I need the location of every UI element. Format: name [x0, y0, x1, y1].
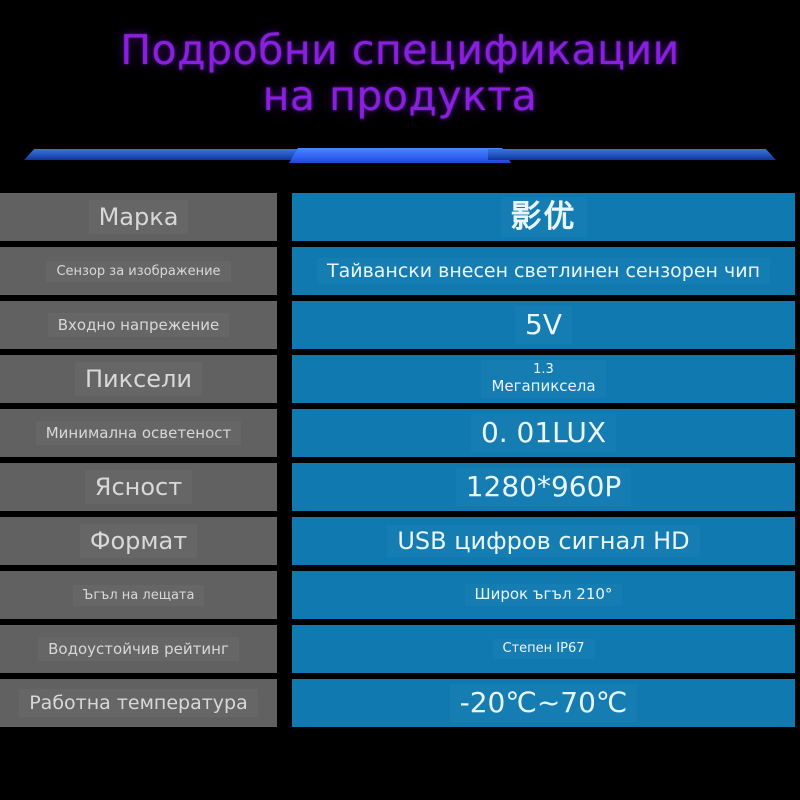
spec-label-cell: Формат: [0, 517, 277, 565]
spec-value-line-2: Мегапиксела: [491, 378, 595, 396]
spec-label-text: Формат: [80, 524, 197, 558]
spec-value-text: Тайвански внесен светлинен сензорен чип: [317, 258, 770, 284]
page-title: Подробни спецификации на продукта: [0, 28, 800, 120]
spec-label-cell: Сензор за изображение: [0, 247, 277, 295]
spec-label-text: Работна температура: [19, 689, 258, 717]
spec-label-cell: Пиксели: [0, 355, 277, 403]
spec-value-cell: 0. 01LUX: [292, 409, 795, 457]
spec-value-cell: Широк ъгъл 210°: [292, 571, 795, 619]
spec-value-text: 1.3Мегапиксела: [481, 360, 605, 397]
spec-value-cell: Степен IP67: [292, 625, 795, 673]
spec-label-cell: Водоустойчив рейтинг: [0, 625, 277, 673]
spec-value-text: Степен IP67: [493, 639, 595, 658]
spec-row: Минимална осветеност0. 01LUX: [0, 409, 800, 457]
spec-value-text: 0. 01LUX: [471, 414, 616, 451]
spec-label-cell: Ъгъл на лещата: [0, 571, 277, 619]
page-title-line-2: на продукта: [0, 74, 800, 120]
spec-row: Марка影优: [0, 193, 800, 241]
divider-center-segment: [289, 148, 511, 163]
spec-label-cell: Минимална осветеност: [0, 409, 277, 457]
spec-value-cell: Тайвански внесен светлинен сензорен чип: [292, 247, 795, 295]
spec-label-text: Водоустойчив рейтинг: [38, 637, 239, 661]
spec-row: Сензор за изображениеТайвански внесен св…: [0, 247, 800, 295]
spec-row: ФорматUSB цифров сигнал HD: [0, 517, 800, 565]
spec-table: Марка影优Сензор за изображениеТайвански вн…: [0, 193, 800, 733]
spec-value-text: Широк ъгъл 210°: [465, 584, 623, 606]
spec-value-text: -20℃~70℃: [450, 684, 638, 721]
spec-label-cell: Марка: [0, 193, 277, 241]
spec-row: Ясност1280*960P: [0, 463, 800, 511]
spec-label-cell: Входно напрежение: [0, 301, 277, 349]
spec-label-cell: Ясност: [0, 463, 277, 511]
spec-value-cell: -20℃~70℃: [292, 679, 795, 727]
spec-value-cell: 1280*960P: [292, 463, 795, 511]
spec-value-text: 影优: [501, 197, 587, 238]
spec-value-cell: 影优: [292, 193, 795, 241]
spec-label-text: Ъгъл на лещата: [73, 585, 205, 606]
spec-row: Ъгъл на лещатаШирок ъгъл 210°: [0, 571, 800, 619]
spec-row: Водоустойчив рейтингСтепен IP67: [0, 625, 800, 673]
decorative-divider-bar: [0, 140, 800, 166]
spec-row: Работна температура-20℃~70℃: [0, 679, 800, 727]
spec-label-text: Сензор за изображение: [46, 261, 230, 282]
spec-value-text: 1280*960P: [456, 468, 632, 505]
spec-label-text: Марка: [89, 200, 189, 234]
page-title-line-1: Подробни спецификации: [0, 28, 800, 74]
spec-value-line-1: 1.3: [491, 362, 595, 377]
spec-row: Пиксели1.3Мегапиксела: [0, 355, 800, 403]
spec-value-text: 5V: [515, 306, 572, 343]
spec-label-cell: Работна температура: [0, 679, 277, 727]
divider-right-segment: [488, 149, 776, 160]
spec-label-text: Пиксели: [75, 362, 202, 396]
divider-left-segment: [24, 149, 312, 160]
spec-value-cell: USB цифров сигнал HD: [292, 517, 795, 565]
product-spec-sheet: Подробни спецификации на продукта Марка影…: [0, 0, 800, 800]
spec-value-text: USB цифров сигнал HD: [387, 525, 699, 557]
spec-label-text: Ясност: [85, 470, 192, 504]
spec-value-cell: 5V: [292, 301, 795, 349]
spec-label-text: Минимална осветеност: [36, 421, 242, 445]
spec-value-cell: 1.3Мегапиксела: [292, 355, 795, 403]
spec-row: Входно напрежение5V: [0, 301, 800, 349]
spec-label-text: Входно напрежение: [48, 313, 230, 337]
